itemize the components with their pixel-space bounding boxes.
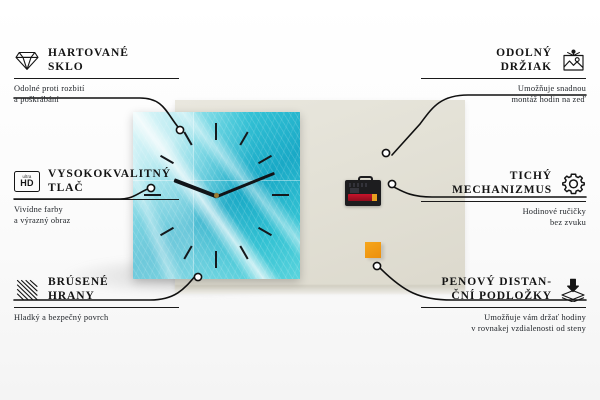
feature-desc-line1: Hodinové ručičky: [523, 207, 586, 216]
feature-desc-line1: Hladký a bezpečný povrch: [14, 313, 108, 322]
feature-title: TICHÝMECHANIZMUS: [452, 170, 552, 197]
divider: [14, 199, 179, 200]
connector-endpoint: [373, 262, 380, 269]
feature-title-line1: PENOVÝ DISTAN-: [442, 276, 552, 288]
feature-description: Hladký a bezpečný povrch: [14, 312, 179, 323]
feature-penove-podlozky[interactable]: PENOVÝ DISTAN-ČNÍ PODLOŽKY Umožňuje vám …: [421, 276, 586, 334]
wall-hanger-frame-icon: [560, 49, 586, 73]
feature-vysokokvalitny-tlac[interactable]: ultraHD VYSOKOKVALITNÝTLAČ Vivídne farby…: [14, 168, 179, 226]
feature-title: BRÚSENÉHRANY: [48, 276, 109, 303]
feature-desc-line2: v rovnakej vzdialenosti od steny: [471, 324, 586, 333]
product-infographic: HARTOVANÉSKLO Odolné proti rozbitía pošk…: [0, 0, 600, 400]
feature-description: Umožňuje snadnoumontáž hodin na zeď: [421, 83, 586, 105]
feature-title-line2: MECHANIZMUS: [452, 184, 552, 196]
feature-desc-line2: a poškrábání: [14, 95, 59, 104]
feature-desc-line2: montáž hodin na zeď: [511, 95, 586, 104]
feature-title: VYSOKOKVALITNÝTLAČ: [48, 168, 171, 195]
feature-header: PENOVÝ DISTAN-ČNÍ PODLOŽKY: [421, 276, 586, 303]
feature-desc-line1: Vivídne farby: [14, 205, 63, 214]
feature-title: HARTOVANÉSKLO: [48, 47, 129, 74]
divider: [14, 78, 179, 79]
feature-title-line2: HRANY: [48, 290, 95, 302]
feature-title-line1: HARTOVANÉ: [48, 47, 129, 59]
feature-desc-line2: bez zvuku: [550, 218, 586, 227]
divider: [421, 78, 586, 79]
feature-title: ODOLNÝDRŽIAK: [496, 47, 552, 74]
feature-header: BRÚSENÉHRANY: [14, 276, 179, 303]
beveled-edge-icon: [14, 278, 40, 302]
feature-title-line1: TICHÝ: [510, 170, 552, 182]
feature-title-line2: DRŽIAK: [501, 61, 552, 73]
feature-title-line2: SKLO: [48, 61, 84, 73]
connector-endpoint: [176, 126, 183, 133]
connector-endpoint: [388, 180, 395, 187]
feature-header: ultraHD VYSOKOKVALITNÝTLAČ: [14, 168, 179, 195]
feature-desc-line1: Odolné proti rozbití: [14, 84, 85, 93]
feature-header: ODOLNÝDRŽIAK: [421, 47, 586, 74]
feature-description: Hodinové ručičkybez zvuku: [421, 206, 586, 228]
feature-desc-line1: Umožňuje snadnou: [518, 84, 586, 93]
feature-tichy-mechanizmus[interactable]: TICHÝMECHANIZMUS Hodinové ručičkybez zvu…: [421, 170, 586, 228]
feature-brusene-hrany[interactable]: BRÚSENÉHRANY Hladký a bezpečný povrch: [14, 276, 179, 323]
feature-description: Umožňuje vám držať hodinyv rovnakej vzdi…: [421, 312, 586, 334]
press-down-layers-icon: [560, 278, 586, 302]
feature-description: Odolné proti rozbitía poškrábání: [14, 83, 179, 105]
diamond-icon: [14, 49, 40, 73]
gear-icon: [560, 172, 586, 196]
feature-title-line2: TLAČ: [48, 182, 84, 194]
divider: [14, 307, 179, 308]
feature-title-line2: ČNÍ PODLOŽKY: [451, 290, 552, 302]
feature-desc-line1: Umožňuje vám držať hodiny: [484, 313, 586, 322]
feature-header: TICHÝMECHANIZMUS: [421, 170, 586, 197]
connector-endpoint: [382, 149, 389, 156]
feature-odolny-drziak[interactable]: ODOLNÝDRŽIAK Umožňuje snadnoumontáž hodi…: [421, 47, 586, 105]
feature-title-line1: ODOLNÝ: [496, 47, 552, 59]
feature-description: Vivídne farbya výrazný obraz: [14, 204, 179, 226]
feature-title-line1: BRÚSENÉ: [48, 276, 109, 288]
feature-header: HARTOVANÉSKLO: [14, 47, 179, 74]
feature-title: PENOVÝ DISTAN-ČNÍ PODLOŽKY: [442, 276, 552, 303]
feature-hartovane-sklo[interactable]: HARTOVANÉSKLO Odolné proti rozbitía pošk…: [14, 47, 179, 105]
divider: [421, 201, 586, 202]
divider: [421, 307, 586, 308]
feature-title-line1: VYSOKOKVALITNÝ: [48, 168, 171, 180]
ultra-hd-badge-icon: ultraHD: [14, 170, 40, 194]
feature-desc-line2: a výrazný obraz: [14, 216, 70, 225]
connector-endpoint: [194, 273, 201, 280]
